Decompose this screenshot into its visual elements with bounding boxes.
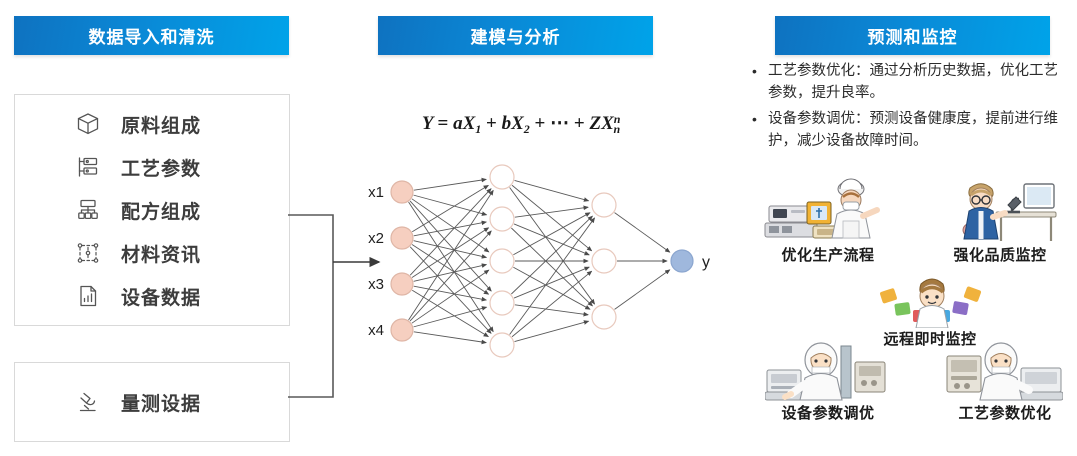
section-header-label: 建模与分析 bbox=[471, 23, 561, 48]
svg-text:x1: x1 bbox=[368, 184, 384, 201]
list-item[interactable]: 材料资讯 bbox=[73, 234, 289, 272]
formula-ellipsis: ⋯ bbox=[550, 113, 569, 134]
formula-term2-var: X bbox=[511, 113, 524, 134]
list-item[interactable]: 工艺参数 bbox=[73, 148, 289, 186]
section-header-label: 预测和监控 bbox=[868, 23, 958, 48]
formula-term3-coef: Z bbox=[589, 113, 601, 134]
list-item-label: 量测设据 bbox=[121, 389, 201, 416]
formula-equals: = bbox=[438, 113, 449, 134]
list-item-label: 设备数据 bbox=[121, 283, 201, 310]
network-dots-icon bbox=[73, 238, 103, 268]
box-icon bbox=[73, 109, 103, 139]
data-source-box-primary: 原料组成 工艺参数 bbox=[14, 94, 290, 326]
formula-plus-2: + bbox=[535, 113, 546, 134]
data-source-list: 原料组成 工艺参数 bbox=[15, 95, 289, 325]
svg-text:x3: x3 bbox=[368, 276, 384, 293]
illustration-caption: 设备参数调优 bbox=[758, 402, 898, 423]
bullet-marker: • bbox=[752, 60, 768, 104]
network-edges bbox=[409, 179, 670, 342]
list-item[interactable]: 配方组成 bbox=[73, 191, 289, 229]
section-header-data-ingest: 数据导入和清洗 bbox=[14, 16, 289, 55]
microscope-icon bbox=[73, 387, 103, 417]
list-item-label: 工艺参数 bbox=[121, 154, 201, 181]
formula-term3-var: X bbox=[601, 113, 614, 134]
illustration-caption: 工艺参数优化 bbox=[930, 402, 1077, 423]
list-item-label: 原料组成 bbox=[121, 111, 201, 138]
section-header-modeling: 建模与分析 bbox=[378, 16, 653, 55]
illustration-caption: 强化品质监控 bbox=[930, 244, 1070, 265]
illustration-caption: 优化生产流程 bbox=[758, 244, 898, 265]
remote-monitoring-illustration bbox=[877, 272, 987, 328]
formula-term1-sub: 1 bbox=[475, 122, 481, 136]
list-item[interactable]: 量测设据 bbox=[73, 383, 289, 421]
cleanroom-console-illustration bbox=[945, 340, 1063, 402]
formula-lhs: Y bbox=[422, 113, 433, 134]
hierarchy-icon bbox=[73, 195, 103, 225]
svg-text:x2: x2 bbox=[368, 230, 384, 247]
bullet-text: 工艺参数优化：通过分析历史数据，优化工艺参数，提升良率。 bbox=[768, 60, 1064, 104]
formula-term2-sub: 2 bbox=[524, 122, 530, 136]
inspector-microscope-illustration bbox=[938, 172, 1060, 246]
list-item[interactable]: 设备数据 bbox=[73, 277, 289, 315]
slide-canvas: 数据导入和清洗 建模与分析 预测和监控 原料组成 bbox=[0, 0, 1077, 456]
list-item: • 工艺参数优化：通过分析历史数据，优化工艺参数，提升良率。 bbox=[752, 60, 1064, 104]
bullet-marker: • bbox=[752, 108, 768, 152]
cleanroom-operator-illustration bbox=[765, 340, 890, 402]
bullet-text: 设备参数调优：预测设备健康度，提前进行维护，减少设备故障时间。 bbox=[768, 108, 1064, 152]
list-item-label: 配方组成 bbox=[121, 197, 201, 224]
layers-icon bbox=[73, 152, 103, 182]
prediction-bullet-list: • 工艺参数优化：通过分析历史数据，优化工艺参数，提升良率。 • 设备参数调优：… bbox=[752, 60, 1064, 156]
chart-document-icon bbox=[73, 281, 103, 311]
list-item: • 设备参数调优：预测设备健康度，提前进行维护，减少设备故障时间。 bbox=[752, 108, 1064, 152]
formula-term3-sub: n bbox=[613, 122, 620, 136]
formula-term1-var: X bbox=[463, 113, 476, 134]
regression-formula: Y = aX1 + bX2 + ⋯ + ZXnn bbox=[396, 112, 646, 137]
svg-text:y: y bbox=[702, 254, 710, 271]
engineer-instruments-illustration bbox=[763, 176, 883, 246]
formula-plus-3: + bbox=[574, 113, 585, 134]
formula-term1-coef: a bbox=[453, 113, 463, 134]
data-source-box-secondary: 量测设据 bbox=[14, 362, 290, 442]
neural-network-diagram: x1x2x3x4y bbox=[352, 160, 732, 365]
list-item[interactable]: 原料组成 bbox=[73, 105, 289, 143]
list-item-label: 材料资讯 bbox=[121, 240, 201, 267]
section-header-prediction: 预测和监控 bbox=[775, 16, 1050, 55]
measurement-source-list: 量测设据 bbox=[15, 363, 289, 441]
section-header-label: 数据导入和清洗 bbox=[89, 23, 215, 48]
formula-term2-coef: b bbox=[502, 113, 512, 134]
svg-text:x4: x4 bbox=[368, 322, 384, 339]
formula-plus-1: + bbox=[486, 113, 497, 134]
